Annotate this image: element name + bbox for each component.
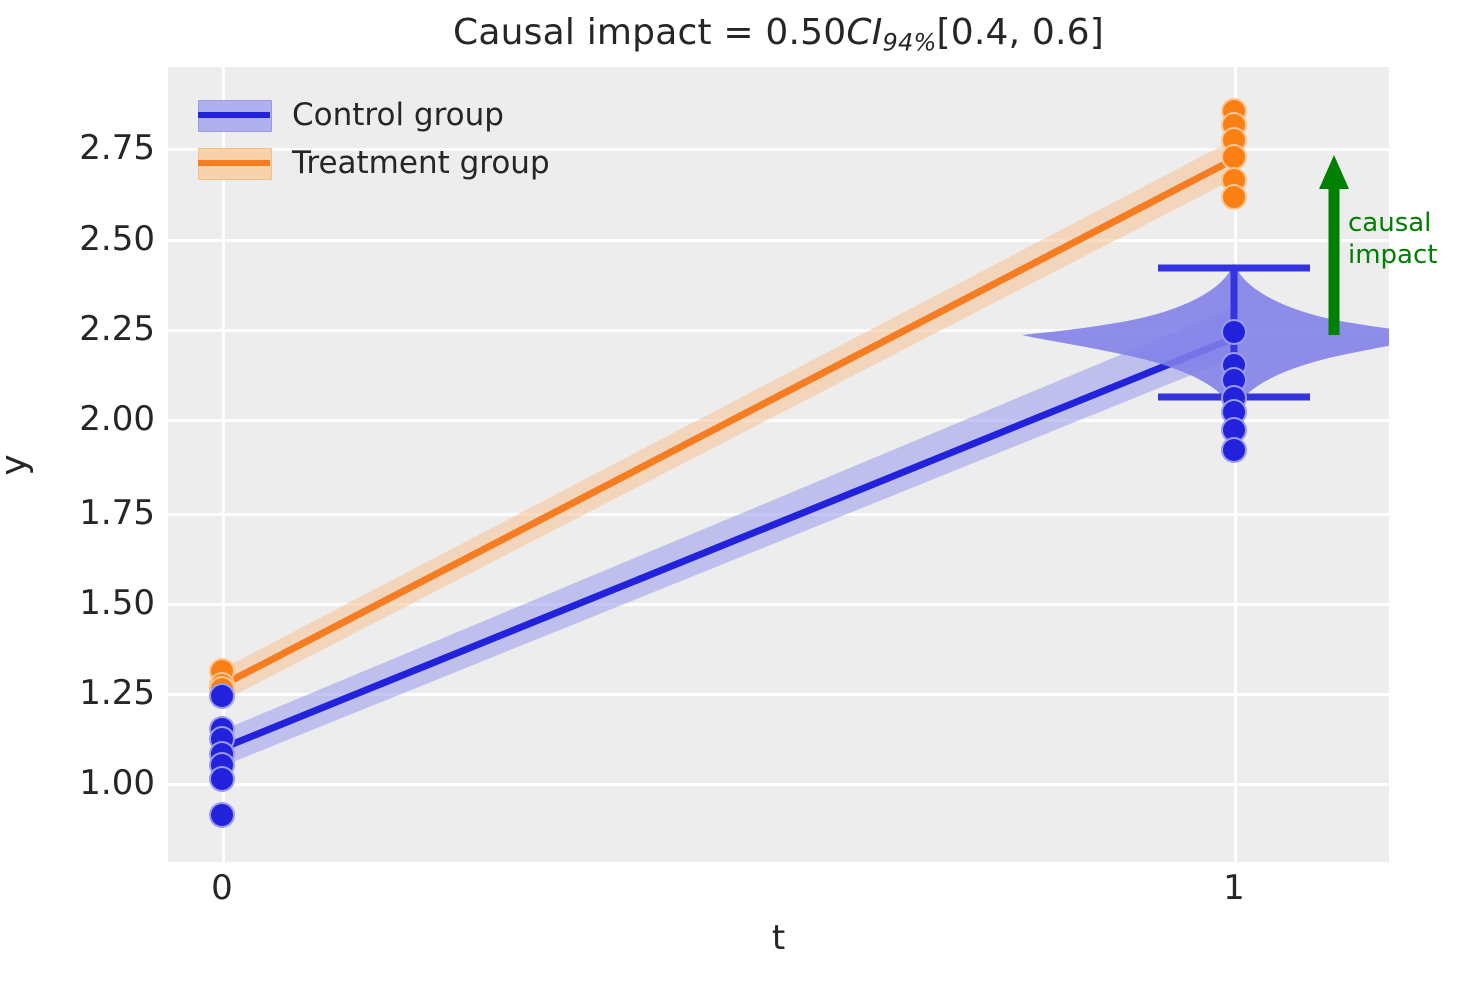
chart-legend: Control group Treatment group xyxy=(198,91,550,187)
y-tick-label-8: 2.75 xyxy=(0,128,155,168)
chart-title: Causal impact = 0.50CI94%[0.4, 0.6] xyxy=(168,12,1389,57)
y-tick-label-1: 1.00 xyxy=(0,763,155,803)
chart-figure: Causal impact = 0.50CI94%[0.4, 0.6] y 1.… xyxy=(0,0,1463,983)
legend-item-control[interactable]: Control group xyxy=(198,91,550,139)
legend-swatch-treatment-icon xyxy=(198,148,270,178)
title-prefix: Causal impact = 0.50 xyxy=(453,12,846,53)
y-tick-label-7: 2.50 xyxy=(0,219,155,259)
legend-label-control: Control group xyxy=(292,97,504,133)
x-tick-label-0: 0 xyxy=(182,868,262,908)
legend-swatch-control-icon xyxy=(198,100,270,130)
x-tick-label-1: 1 xyxy=(1194,868,1274,908)
y-tick-label-5: 2.00 xyxy=(0,399,155,439)
y-tick-label-6: 2.25 xyxy=(0,309,155,349)
causal-impact-annotation-line1: causal xyxy=(1348,208,1431,239)
legend-item-treatment[interactable]: Treatment group xyxy=(198,139,550,187)
title-interval: [0.4, 0.6] xyxy=(937,12,1104,53)
y-tick-label-3: 1.50 xyxy=(0,583,155,623)
y-tick-label-2: 1.25 xyxy=(0,673,155,713)
causal-impact-arrow xyxy=(1319,155,1349,335)
title-ci-subscript: 94% xyxy=(883,29,937,57)
legend-label-treatment: Treatment group xyxy=(292,145,550,181)
plot-area: Control group Treatment group xyxy=(168,67,1389,862)
causal-impact-annotation-line2: impact xyxy=(1348,240,1437,271)
y-tick-label-4: 1.75 xyxy=(0,493,155,533)
y-axis-label: y xyxy=(0,454,35,475)
title-ci-symbol: CI xyxy=(846,12,882,53)
x-axis-label: t xyxy=(168,918,1389,958)
